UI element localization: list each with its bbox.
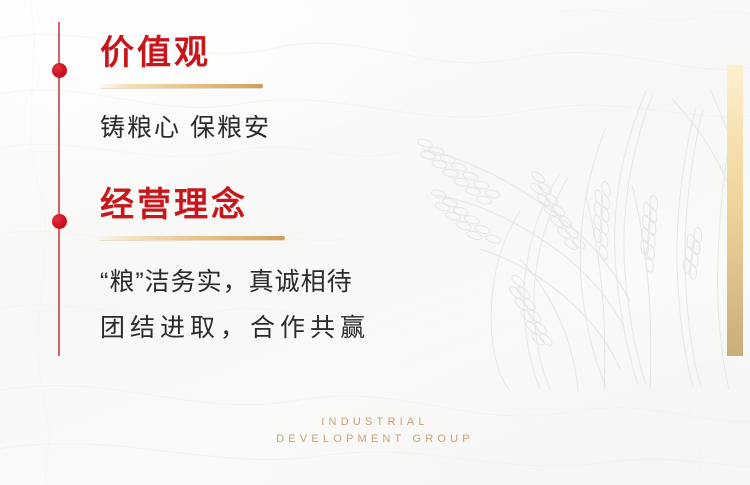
poster-canvas: 价值观 铸粮心 保粮安 经营理念 “粮”洁务实，真诚相待 团结进取，合作共赢 I… [0,0,750,485]
footer-wordmark-line-1: INDUSTRIAL [0,414,750,431]
gold-divider-philosophy [100,236,285,240]
gold-vertical-bar [727,65,743,356]
section-values-heading: 价值观 [100,36,271,70]
footer-wordmark-line-2: DEVELOPMENT GROUP [0,431,750,448]
section-philosophy-line-2: 团结进取，合作共赢 [100,316,370,341]
footer-wordmark: INDUSTRIAL DEVELOPMENT GROUP [0,414,750,448]
section-philosophy: 经营理念 “粮”洁务实，真诚相待 团结进取，合作共赢 [100,188,370,341]
section-philosophy-line-1: “粮”洁务实，真诚相待 [100,270,370,295]
red-dot-philosophy [52,214,67,229]
section-values: 价值观 铸粮心 保粮安 [100,36,271,141]
gold-divider-values [100,84,263,88]
red-dot-values [52,63,67,78]
section-values-line-1: 铸粮心 保粮安 [100,116,271,141]
section-philosophy-heading: 经营理念 [100,188,370,222]
